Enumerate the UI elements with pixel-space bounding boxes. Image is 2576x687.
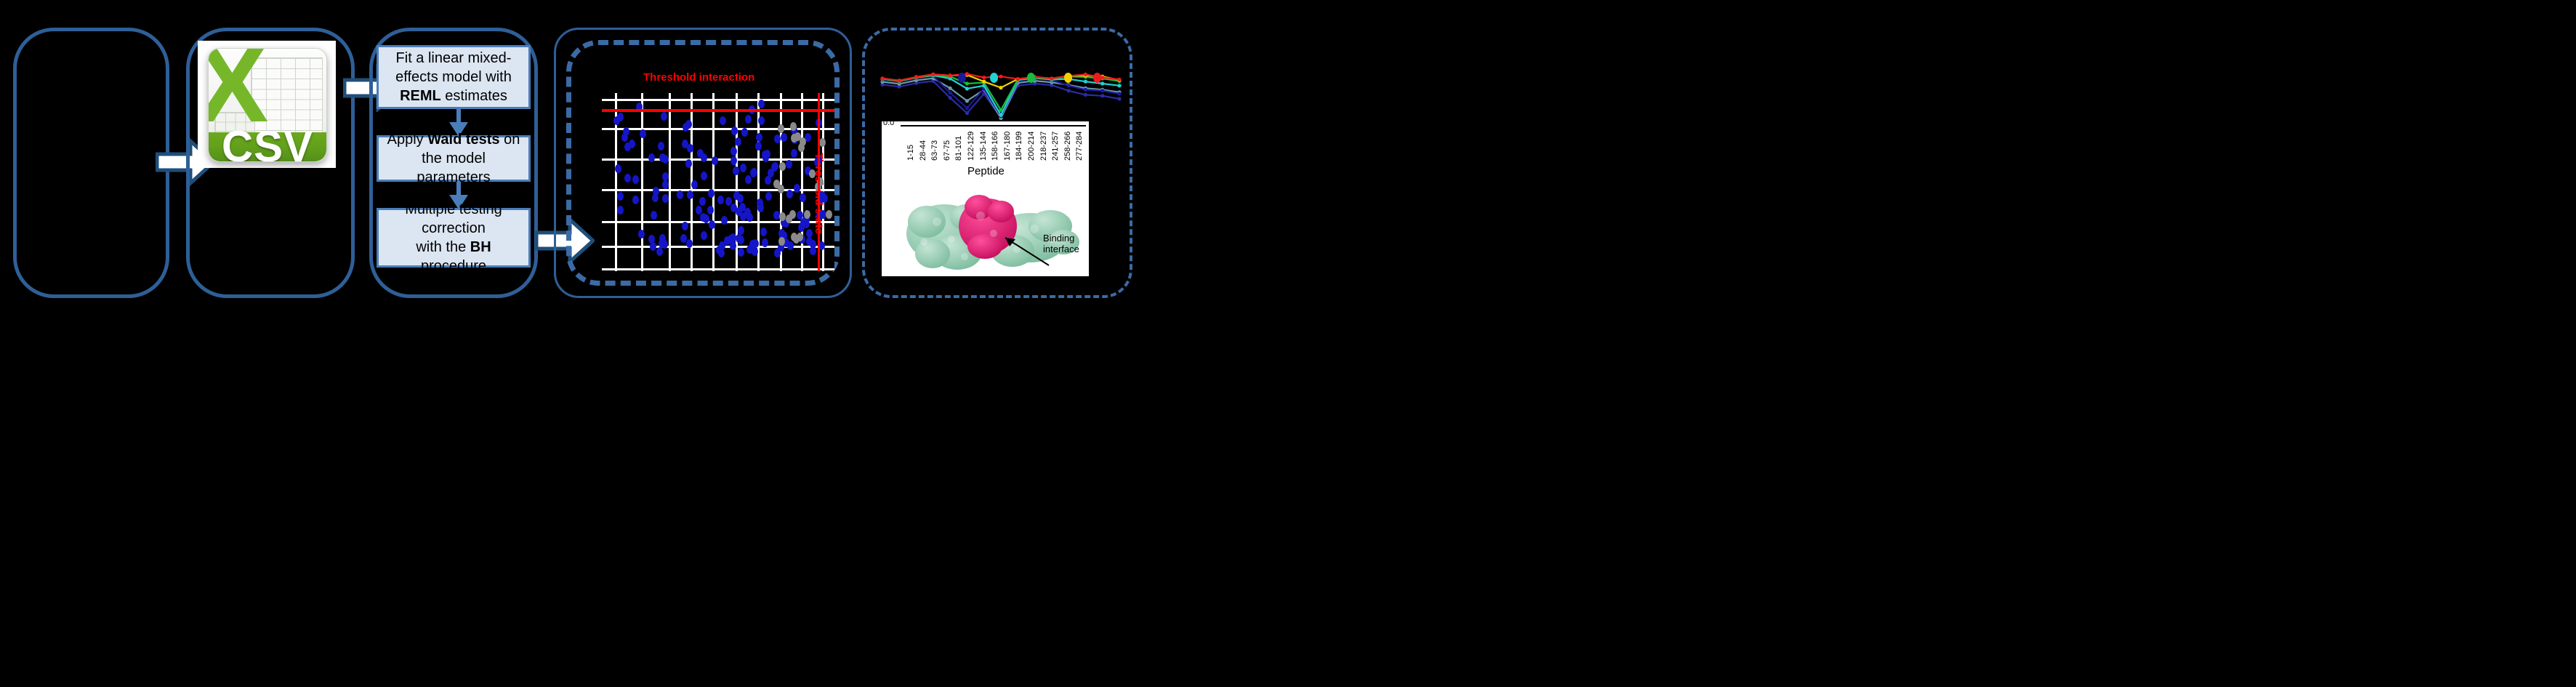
peptide-tick-label: 167-180 [1003,132,1012,161]
scatter-point [757,204,764,212]
bh-correction-box: Multiple testingcorrectionwith the BH pr… [377,208,531,268]
scatter-point [682,222,688,230]
line-marker [1117,97,1121,100]
scatter-point [661,112,667,121]
scatter-point [662,155,669,164]
scatter-point [794,184,800,193]
structure-card: 0.0 1-1528-4463-7367-7581-101122-129135-… [882,121,1089,276]
line-marker [1067,89,1071,92]
fit-model-line-4: estimates [441,88,507,104]
scatter-point [755,142,762,150]
scatter-point [789,210,796,219]
scatter-point [804,210,810,219]
scatter-point [730,147,737,156]
scatter-point [699,197,706,206]
line-marker [1100,81,1104,85]
scatter-point [806,237,813,246]
line-marker [949,87,952,90]
line-chart-svg [872,42,1127,122]
legend-dot-series-2 [990,73,998,83]
line-marker [982,80,986,84]
line-marker [1100,94,1104,97]
line-marker [898,79,901,82]
peptide-tick-label: 200-214 [1027,132,1036,161]
scatter-point [786,190,793,198]
scatter-point [617,113,624,121]
wald-term: Wald tests [427,132,499,148]
scatter-point [707,206,714,214]
line-marker [1100,89,1104,92]
scatter-point [691,180,698,189]
binding-interface-line-1: Binding [1043,233,1074,244]
scatter-point [826,210,832,219]
scatter-point [806,229,813,238]
scatter-point [701,153,707,162]
peptide-tick-label: 158-166 [991,132,999,161]
scatter-point [701,231,707,240]
scatter-point [632,175,639,184]
scatter-point [786,160,792,169]
scatter-point [738,226,744,235]
scatter-point [758,116,765,125]
fit-model-line-2: effects model with [395,69,512,85]
peptide-tick-label: 135-144 [979,132,988,161]
scatter-points-layer [602,93,834,271]
scatter-point [656,247,663,256]
scatter-point [685,159,692,168]
peptide-tick-label: 241-257 [1051,132,1060,161]
scatter-point [662,194,669,203]
legend-dot-series-3 [1027,73,1035,83]
scatter-point [677,190,683,199]
scatter-point [687,144,693,153]
threshold-interaction-label: Threshold interaction [643,71,754,84]
threshold-scatter-plot: Threshold interaction Threshold state [574,44,836,284]
fit-model-box: Fit a linear mixed- effects model with R… [377,45,531,109]
scatter-point [712,156,718,165]
scatter-point [717,196,724,204]
scatter-point [653,187,659,196]
line-marker [1016,77,1020,81]
fit-model-term-reml: REML [400,88,441,104]
line-marker [999,86,1002,89]
scatter-point [779,162,786,171]
line-marker [1084,80,1087,84]
scatter-point [624,174,631,182]
threshold-interaction-line [602,109,834,112]
scatter-point [638,230,645,238]
scatter-point [744,208,751,217]
peptide-tick-label: 1-15 [906,145,915,161]
line-marker [999,108,1002,112]
scatter-point [791,149,797,158]
scatter-point [617,206,624,214]
scatter-point [745,115,752,124]
protein-structure-image [895,181,1081,274]
scatter-point [819,138,826,147]
scatter-point [736,234,742,243]
scatter-point [708,189,715,198]
peptide-tick-label: 258-266 [1063,132,1072,161]
line-marker [999,75,1002,79]
scatter-point [773,180,780,188]
peptide-tick-label: 184-199 [1015,132,1023,161]
scatter-point [800,193,806,202]
scatter-point [756,133,762,142]
scatter-point [629,140,635,148]
peptide-line-chart [872,42,1127,122]
legend-dot-series-1 [958,73,966,83]
scatter-point [774,134,781,143]
peptide-tick-label: 67-75 [943,140,951,161]
scatter-point [648,153,655,162]
peptide-tick-label: 81-101 [954,136,963,161]
scatter-point [750,169,757,177]
scatter-point [765,192,772,201]
csv-file-icon: X CSV [208,48,327,162]
line-marker [949,91,952,95]
scatter-point [762,238,768,247]
scatter-point [758,100,765,108]
legend-dot-series-5 [1093,73,1101,83]
scatter-point [790,122,797,131]
scatter-point [659,234,666,243]
line-marker [1084,88,1087,92]
line-marker [999,113,1002,117]
scatter-point [623,127,629,136]
excel-x-icon: X [212,53,252,114]
scatter-point [651,211,657,220]
scatter-point [687,190,693,199]
line-marker [931,73,935,76]
line-series [882,79,1119,118]
line-marker [949,73,952,77]
line-marker [1084,73,1087,76]
scatter-point [721,216,728,225]
scatter-point [650,242,656,251]
scatter-point [740,164,746,172]
scatter-point [701,172,707,180]
peptide-tick-label: 218-237 [1039,132,1048,161]
line-marker [965,111,969,115]
line-marker [949,96,952,100]
wald-tests-box: Apply Wald tests onthe model parameters [377,135,531,182]
legend-dot-series-4 [1064,73,1072,83]
scatter-point [686,239,693,248]
scatter-point [719,241,725,250]
scatter-point [735,137,741,146]
scatter-point [745,175,752,184]
binding-interface-annotation: Binding interface [1043,233,1079,255]
input-panel [13,28,169,298]
scatter-point [774,249,781,257]
scatter-point [730,204,737,212]
scatter-point [771,163,778,172]
scatter-point [658,142,664,150]
line-marker [1117,78,1121,81]
csv-format-band: CSV [209,132,326,161]
scatter-point [662,180,669,189]
fit-model-line-1: Fit a linear mixed- [396,50,512,66]
line-marker [982,76,986,79]
scatter-point [632,196,639,204]
line-marker [1117,84,1121,87]
csv-format-label: CSV [222,121,313,162]
line-marker [1050,76,1053,80]
line-marker [965,87,969,90]
peptide-tick-label: 277-284 [1075,132,1084,161]
scatter-plot-area [602,93,834,271]
scatter-point [738,248,744,257]
peptide-tick-label: 63-73 [930,140,939,161]
scatter-point [731,126,738,135]
scatter-point [709,220,715,229]
line-marker [914,75,918,79]
scatter-point [730,156,737,165]
scatter-point [787,241,794,250]
line-marker [1117,92,1121,95]
scatter-point [781,133,787,142]
threshold-state-line [818,93,820,271]
scatter-point [800,137,806,146]
scatter-point [615,164,621,173]
scatter-point [683,123,689,132]
line-marker [965,81,969,85]
x-axis-title: Peptide [967,165,1005,177]
peptide-tick-label: 28-44 [919,140,927,161]
line-marker [1084,93,1087,97]
scatter-point [760,228,767,236]
csv-file-card: X CSV [198,41,336,168]
scatter-point [640,129,646,138]
line-marker [880,76,884,80]
scatter-point [778,229,785,238]
line-marker [1067,84,1071,87]
scatter-point [765,176,771,185]
scatter-point [809,169,816,178]
scatter-point [791,134,797,142]
scatter-point [720,116,726,125]
line-marker [965,106,969,110]
scatter-point [733,166,739,175]
line-marker [965,99,969,103]
bh-term: BH [470,239,491,255]
scatter-point [648,235,655,244]
scatter-point [741,128,748,137]
peptide-tick-label: 122-129 [967,132,975,161]
scatter-point [617,192,624,201]
scatter-point [778,124,784,133]
binding-interface-line-2: interface [1043,244,1079,254]
